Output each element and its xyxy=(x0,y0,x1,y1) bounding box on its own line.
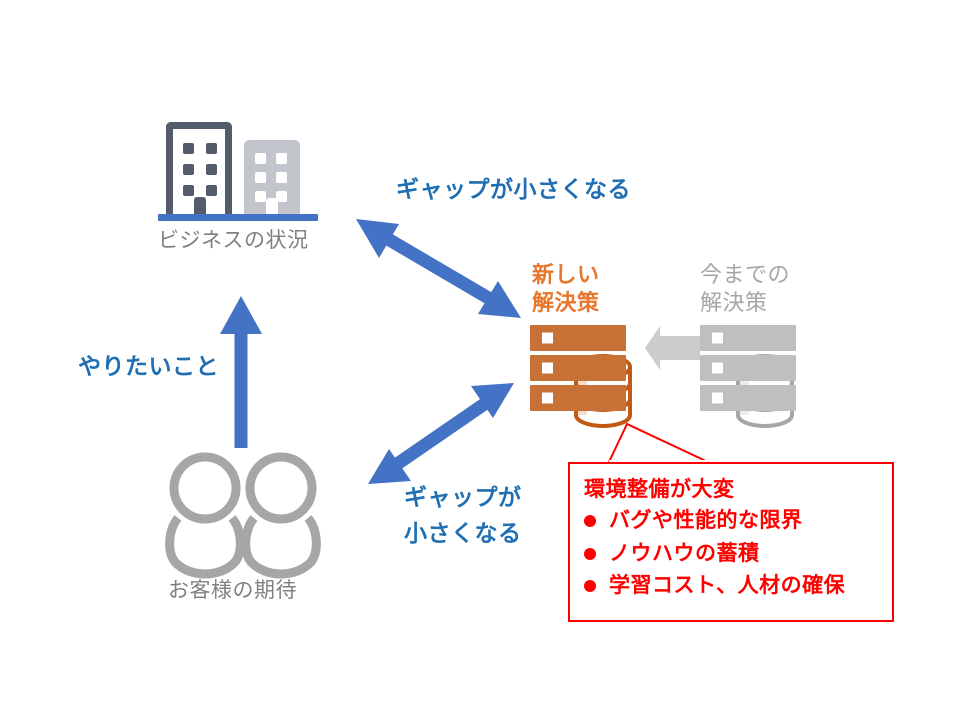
customer-label: お客様の期待 xyxy=(168,578,297,604)
server-bar-new-2 xyxy=(530,355,626,381)
callout-box: 環境整備が大変 バグや性能的な限界 ノウハウの蓄積 学習コスト、人材の確保 xyxy=(568,462,894,622)
callout-item-label: ノウハウの蓄積 xyxy=(609,538,760,571)
server-bar-old-2 xyxy=(700,355,796,381)
building-light xyxy=(244,140,300,214)
diagram-canvas: ビジネスの状況 お客様の期待 やりたいこと ギャップが小さくなる ギャップが 小… xyxy=(0,0,960,720)
bullet-icon xyxy=(584,515,596,527)
gap-bottom-line1: ギャップが xyxy=(404,483,522,511)
server-bar-new-3 xyxy=(530,385,626,411)
want-to-do-label: やりたいこと xyxy=(78,352,219,380)
gap-top-label: ギャップが小さくなる xyxy=(396,175,631,203)
old-solution-label-line1: 今までの xyxy=(700,261,790,289)
arrow-gap-bottom xyxy=(368,383,514,484)
server-bar-old-3 xyxy=(700,385,796,411)
arrow-gap-top xyxy=(356,219,521,318)
ground-bar xyxy=(158,214,318,221)
bullet-icon xyxy=(584,580,596,592)
gap-bottom-line2: 小さくなる xyxy=(404,519,522,547)
callout-item: バグや性能的な限界 xyxy=(584,505,892,538)
server-bar-old-1 xyxy=(700,325,796,351)
new-solution-label-line2: 解決策 xyxy=(532,289,600,317)
old-solution-label-line2: 解決策 xyxy=(700,289,768,317)
callout-item-label: バグや性能的な限界 xyxy=(609,505,803,538)
arrow-migration xyxy=(645,326,700,370)
business-label: ビジネスの状況 xyxy=(158,228,309,254)
callout-title: 環境整備が大変 xyxy=(584,473,892,503)
bullet-icon xyxy=(584,548,596,560)
callout-item: 学習コスト、人材の確保 xyxy=(584,570,892,603)
office-buildings-icon xyxy=(158,118,318,223)
callout-item-label: 学習コスト、人材の確保 xyxy=(609,570,845,603)
two-people-icon xyxy=(170,457,317,574)
callout-list: バグや性能的な限界 ノウハウの蓄積 学習コスト、人材の確保 xyxy=(570,505,892,603)
server-bar-new-1 xyxy=(530,325,626,351)
building-dark xyxy=(166,122,232,214)
arrow-want-to-do xyxy=(220,296,262,448)
callout-item: ノウハウの蓄積 xyxy=(584,538,892,571)
new-solution-label-line1: 新しい xyxy=(532,261,600,289)
